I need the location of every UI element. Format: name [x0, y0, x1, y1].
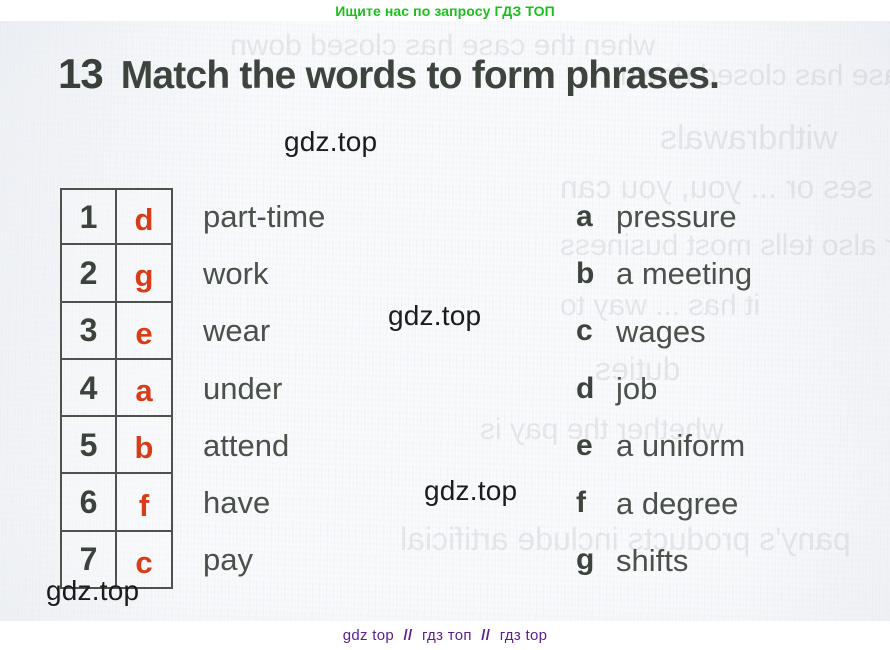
- footer-separator-2: //: [476, 627, 495, 644]
- option-letter: g: [576, 545, 616, 575]
- match-answer-cell[interactable]: d: [116, 188, 173, 245]
- option-letter: e: [576, 431, 616, 461]
- match-answer-letter: g: [135, 260, 154, 291]
- option-label: job: [616, 373, 657, 404]
- match-number-cell: 1: [60, 188, 117, 245]
- option-label: wages: [616, 316, 706, 347]
- exercise-title: Match the words to form phrases.: [121, 56, 720, 95]
- exercise-number: 13: [58, 53, 103, 95]
- match-answer-letter: f: [139, 490, 149, 521]
- match-phrase: work: [203, 258, 268, 289]
- option-label: shifts: [616, 545, 688, 576]
- promo-banner-text: Ищите нас по запросу ГДЗ ТОП: [335, 3, 555, 19]
- match-answer-cell[interactable]: e: [116, 302, 173, 360]
- option-row: djob: [576, 360, 752, 417]
- match-answer-letter: d: [135, 204, 154, 235]
- match-answer-letter: e: [135, 318, 152, 349]
- option-row: cwages: [576, 303, 752, 360]
- option-letter: b: [576, 259, 616, 289]
- footer-part-2: гдз топ: [422, 627, 472, 644]
- match-table: 1dpart-time2gwork3ewear4aunder5battend6f…: [60, 188, 173, 589]
- watermark: gdz.top: [46, 575, 139, 607]
- option-letter: c: [576, 316, 616, 346]
- watermark: gdz.top: [284, 126, 377, 158]
- option-letter: a: [576, 202, 616, 232]
- match-phrase: have: [203, 487, 270, 518]
- footer-text: gdz top // гдз топ // гдз top: [343, 627, 547, 644]
- match-number-cell: 4: [60, 359, 117, 417]
- match-number: 1: [80, 201, 98, 233]
- match-number-cell: 2: [60, 244, 117, 302]
- match-number-cell: 3: [60, 302, 117, 360]
- scanned-worksheet-page: Ищите нас по запросу ГДЗ ТОП when the ca…: [0, 0, 890, 650]
- match-row: 4aunder: [60, 360, 173, 417]
- match-number-cell: 5: [60, 416, 117, 474]
- match-answer-cell[interactable]: a: [116, 359, 173, 417]
- match-answer-cell[interactable]: b: [116, 416, 173, 474]
- option-label: a uniform: [616, 430, 745, 461]
- option-label: pressure: [616, 201, 737, 232]
- footer-strip: gdz top // гдз топ // гдз top: [0, 621, 890, 650]
- footer-separator-1: //: [399, 627, 418, 644]
- match-phrase: under: [203, 372, 282, 403]
- match-phrase: part-time: [203, 201, 325, 232]
- match-number: 6: [80, 486, 98, 518]
- match-number: 5: [80, 429, 98, 461]
- match-answer-letter: a: [135, 375, 152, 406]
- watermark: gdz.top: [424, 475, 517, 507]
- footer-part-1: gdz top: [343, 627, 394, 644]
- match-row: 5battend: [60, 417, 173, 474]
- match-row: 2gwork: [60, 245, 173, 302]
- option-row: fa degree: [576, 474, 752, 531]
- option-label: a meeting: [616, 258, 752, 289]
- match-phrase: attend: [203, 430, 289, 461]
- option-letter: f: [576, 488, 616, 518]
- option-row: gshifts: [576, 532, 752, 589]
- match-number: 4: [80, 372, 98, 404]
- match-row: 6fhave: [60, 474, 173, 531]
- match-row: 3ewear: [60, 303, 173, 360]
- watermark: gdz.top: [388, 300, 481, 332]
- exercise-heading: 13 Match the words to form phrases.: [58, 53, 719, 95]
- match-phrase: pay: [203, 544, 253, 575]
- option-label: a degree: [616, 488, 738, 519]
- match-number-cell: 6: [60, 473, 117, 531]
- match-row: 1dpart-time: [60, 188, 173, 245]
- match-answer-cell[interactable]: g: [116, 244, 173, 302]
- footer-part-3: гдз top: [500, 627, 548, 644]
- option-row: ba meeting: [576, 245, 752, 302]
- match-answer-cell[interactable]: f: [116, 473, 173, 531]
- match-answer-letter: b: [135, 432, 154, 463]
- match-phrase: wear: [203, 315, 270, 346]
- match-answer-letter: c: [135, 547, 152, 578]
- option-letter: d: [576, 374, 616, 404]
- showthrough-text: withdrawals: [660, 119, 838, 158]
- match-number: 2: [80, 257, 98, 289]
- match-number: 3: [80, 314, 98, 346]
- option-row: apressure: [576, 188, 752, 245]
- promo-banner: Ищите нас по запросу ГДЗ ТОП: [0, 0, 890, 21]
- options-column: apressureba meetingcwagesdjobea uniformf…: [576, 188, 752, 589]
- match-number: 7: [80, 543, 98, 575]
- option-row: ea uniform: [576, 417, 752, 474]
